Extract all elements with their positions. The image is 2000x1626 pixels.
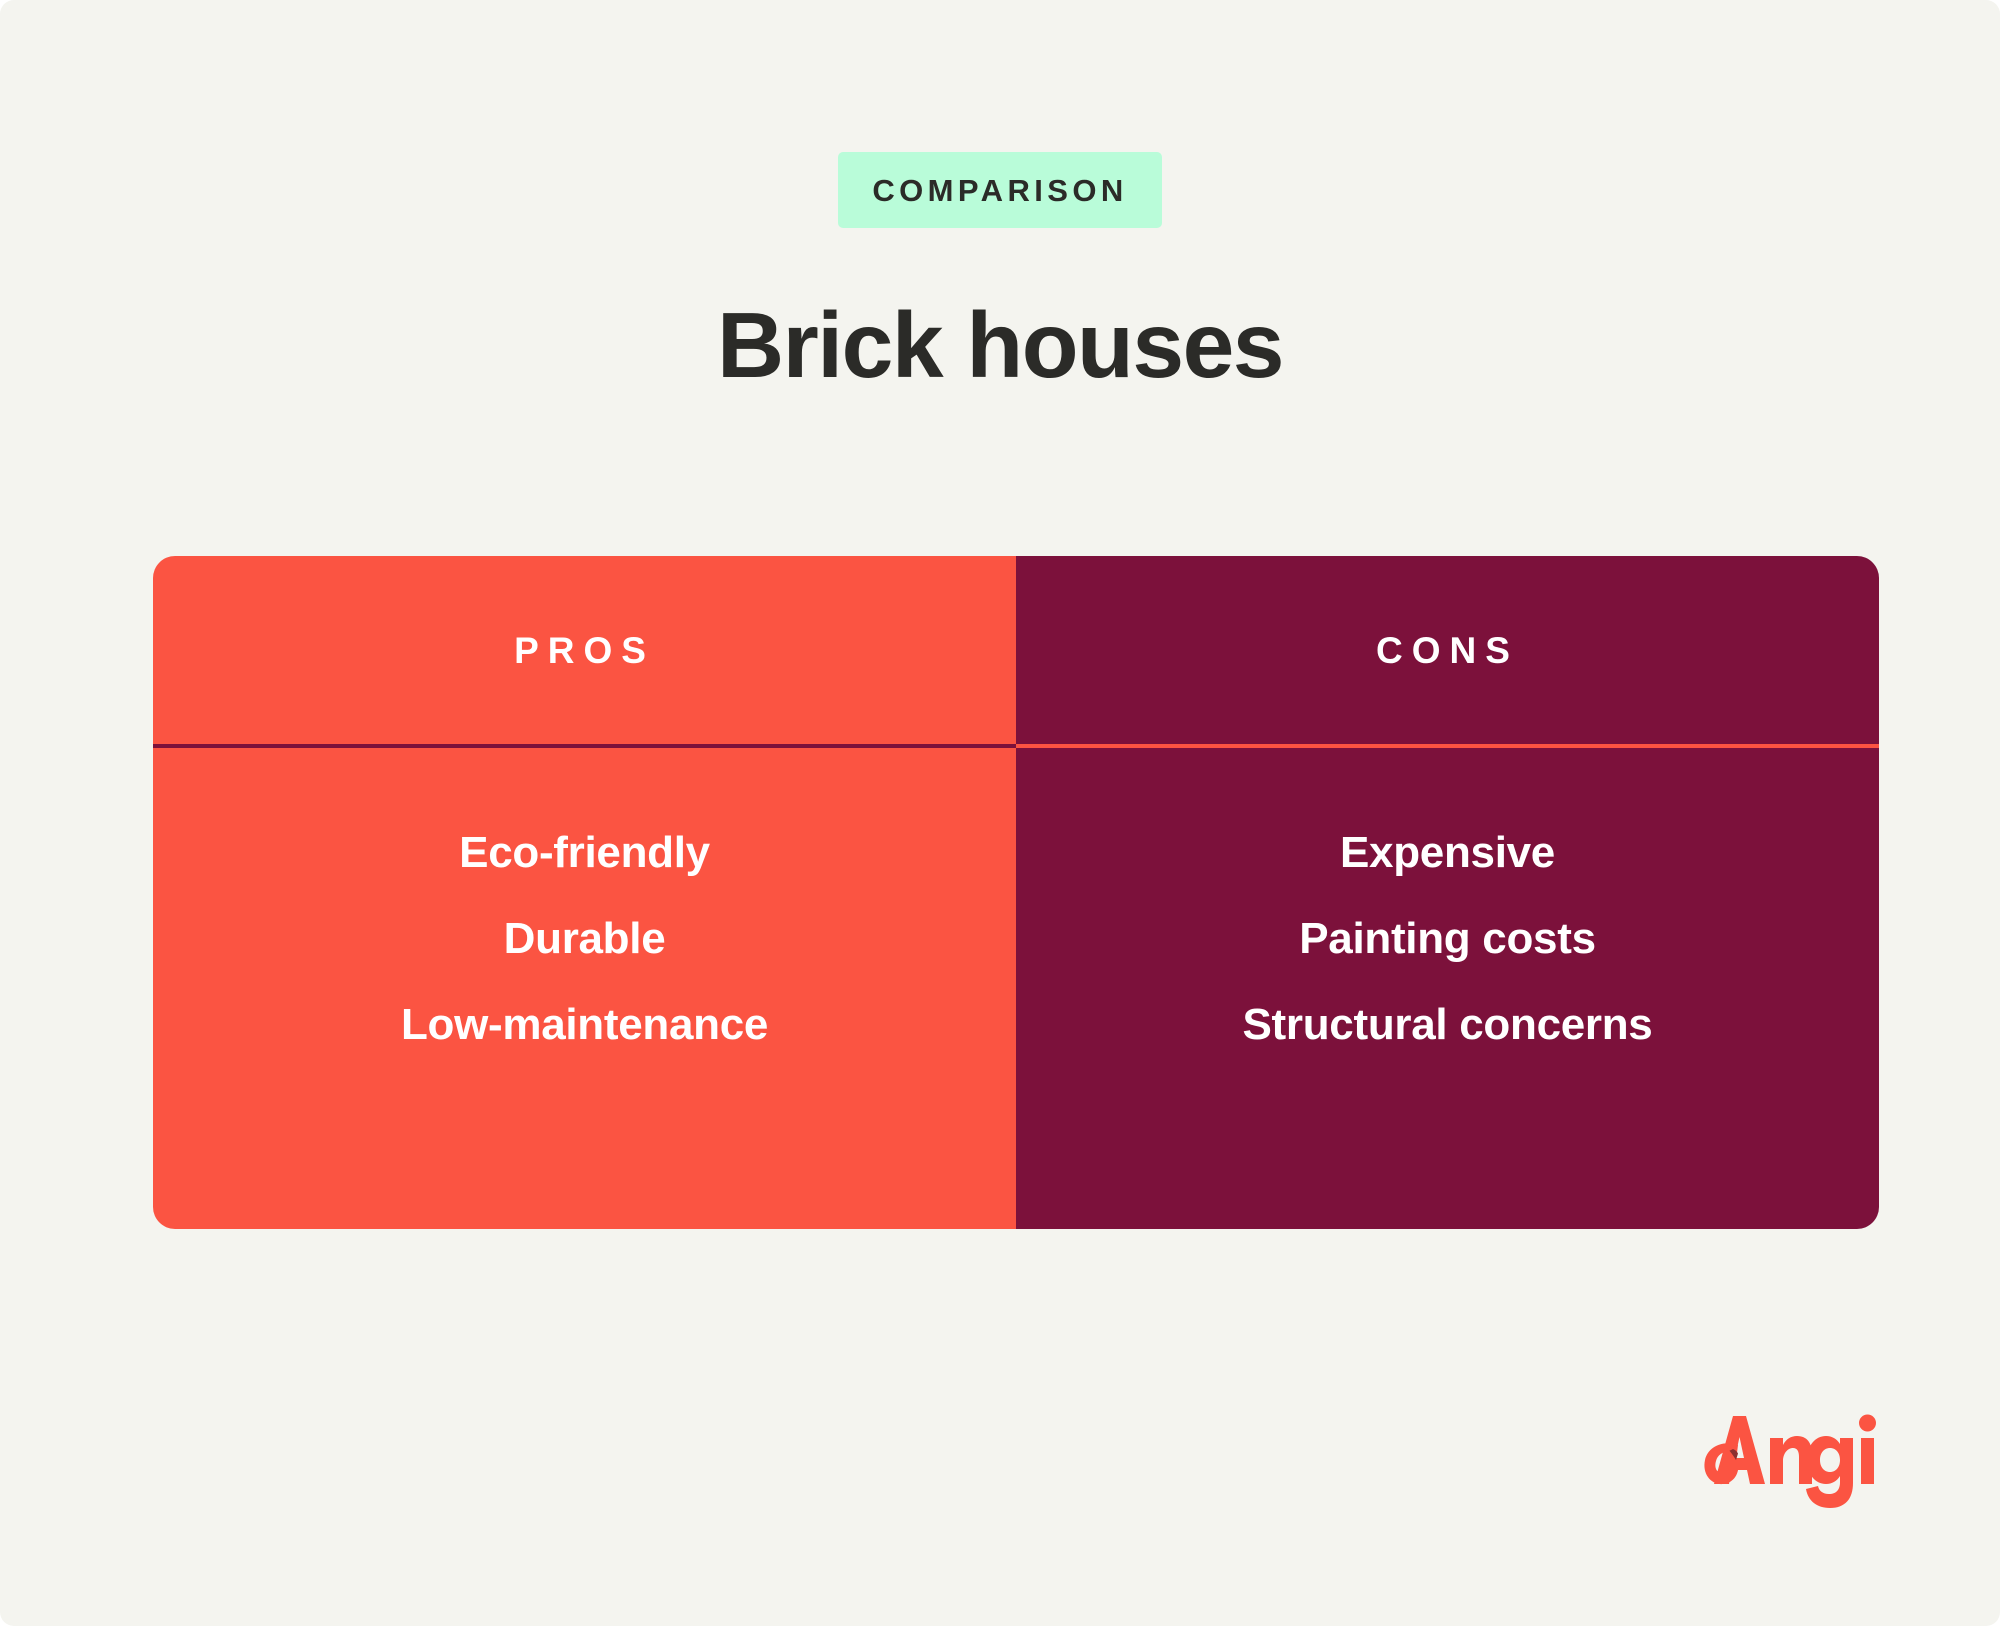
cons-column-heading: CONS: [1016, 556, 1879, 748]
pros-cons-card: PROS Eco-friendly Durable Low-maintenanc…: [153, 556, 1879, 1229]
header: COMPARISON Brick houses: [0, 0, 2000, 392]
pros-column: PROS Eco-friendly Durable Low-maintenanc…: [153, 556, 1016, 1229]
list-item: Expensive: [1016, 810, 1879, 896]
list-item: Structural concerns: [1016, 982, 1879, 1068]
list-item: Low-maintenance: [153, 982, 1016, 1068]
list-item: Eco-friendly: [153, 810, 1016, 896]
cons-list: Expensive Painting costs Structural conc…: [1016, 748, 1879, 1229]
list-item: Painting costs: [1016, 896, 1879, 982]
pros-list: Eco-friendly Durable Low-maintenance: [153, 748, 1016, 1229]
comparison-badge: COMPARISON: [838, 152, 1161, 228]
cons-column: CONS Expensive Painting costs Structural…: [1016, 556, 1879, 1229]
list-item: Durable: [153, 896, 1016, 982]
page-title: Brick houses: [0, 228, 2000, 392]
comparison-infographic: COMPARISON Brick houses PROS Eco-friendl…: [0, 0, 2000, 1626]
angi-logo: [1702, 1412, 1882, 1512]
angi-wordmark-icon: [1702, 1412, 1882, 1512]
pros-column-heading: PROS: [153, 556, 1016, 748]
